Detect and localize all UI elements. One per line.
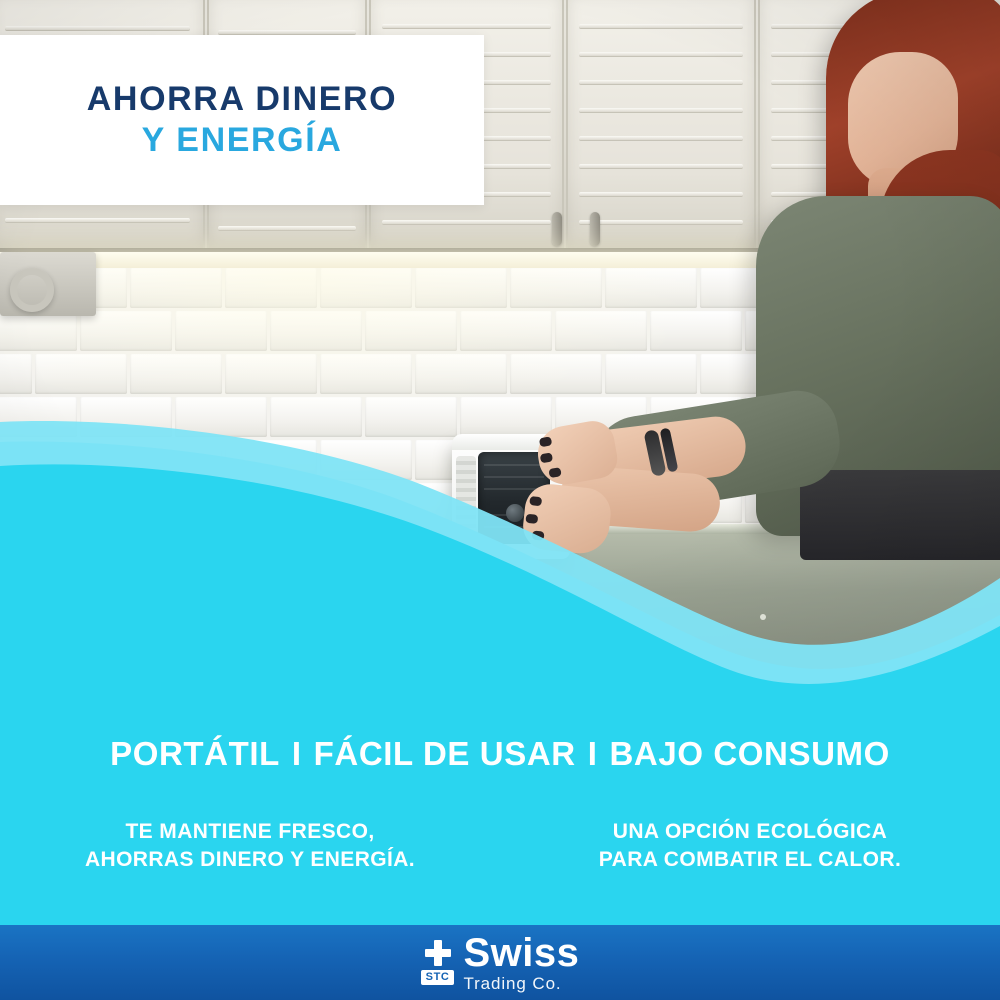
swiss-cross-icon: [425, 940, 451, 966]
logo-wordmark: Swiss Trading Co.: [463, 933, 579, 992]
benefit-right-line-2: PARA COMBATIR EL CALOR.: [520, 846, 980, 874]
headline-card: AHORRA DINERO Y ENERGÍA: [0, 35, 484, 205]
benefits-row: TE MANTIENE FRESCO, AHORRAS DINERO Y ENE…: [0, 818, 1000, 873]
person-waist: [800, 470, 1000, 560]
cabinet-handle: [552, 212, 562, 246]
ad-creative: AHORRA DINERO Y ENERGÍA PORTÁTILIFÁCIL D…: [0, 0, 1000, 1000]
bottom-content: PORTÁTILIFÁCIL DE USARIBAJO CONSUMO TE M…: [0, 700, 1000, 925]
brand-tagline: Trading Co.: [463, 975, 579, 992]
benefit-right: UNA OPCIÓN ECOLÓGICA PARA COMBATIR EL CA…: [520, 818, 980, 873]
headline-line-1: AHORRA DINERO: [87, 79, 397, 120]
benefit-left: TE MANTIENE FRESCO, AHORRAS DINERO Y ENE…: [20, 818, 480, 873]
logo-mark: STC: [421, 940, 455, 985]
feature-separator: I: [280, 735, 314, 772]
footer-bar: STC Swiss Trading Co.: [0, 925, 1000, 1000]
benefit-right-line-1: UNA OPCIÓN ECOLÓGICA: [520, 818, 980, 846]
cabinet-handle: [590, 212, 600, 246]
feature-list: PORTÁTILIFÁCIL DE USARIBAJO CONSUMO: [0, 735, 1000, 773]
brand-logo[interactable]: STC Swiss Trading Co.: [421, 933, 580, 992]
benefit-left-line-2: AHORRAS DINERO Y ENERGÍA.: [20, 846, 480, 874]
headline-line-2: Y ENERGÍA: [142, 120, 343, 161]
wall-ring-fixture: [10, 268, 54, 312]
feature-separator: I: [576, 735, 610, 772]
brand-name: Swiss: [463, 933, 579, 973]
cabinet-panel: [566, 0, 756, 248]
feature-item-bajo-consumo: BAJO CONSUMO: [610, 735, 890, 772]
cooler-side-vents: [456, 456, 476, 542]
stc-badge: STC: [421, 970, 455, 985]
cooler-knob: [506, 504, 524, 522]
feature-item-facil: FÁCIL DE USAR: [314, 735, 576, 772]
benefit-left-line-1: TE MANTIENE FRESCO,: [20, 818, 480, 846]
under-cabinet-light: [0, 252, 860, 268]
feature-item-portatil: PORTÁTIL: [110, 735, 280, 772]
person-hand-lower: [521, 482, 613, 557]
